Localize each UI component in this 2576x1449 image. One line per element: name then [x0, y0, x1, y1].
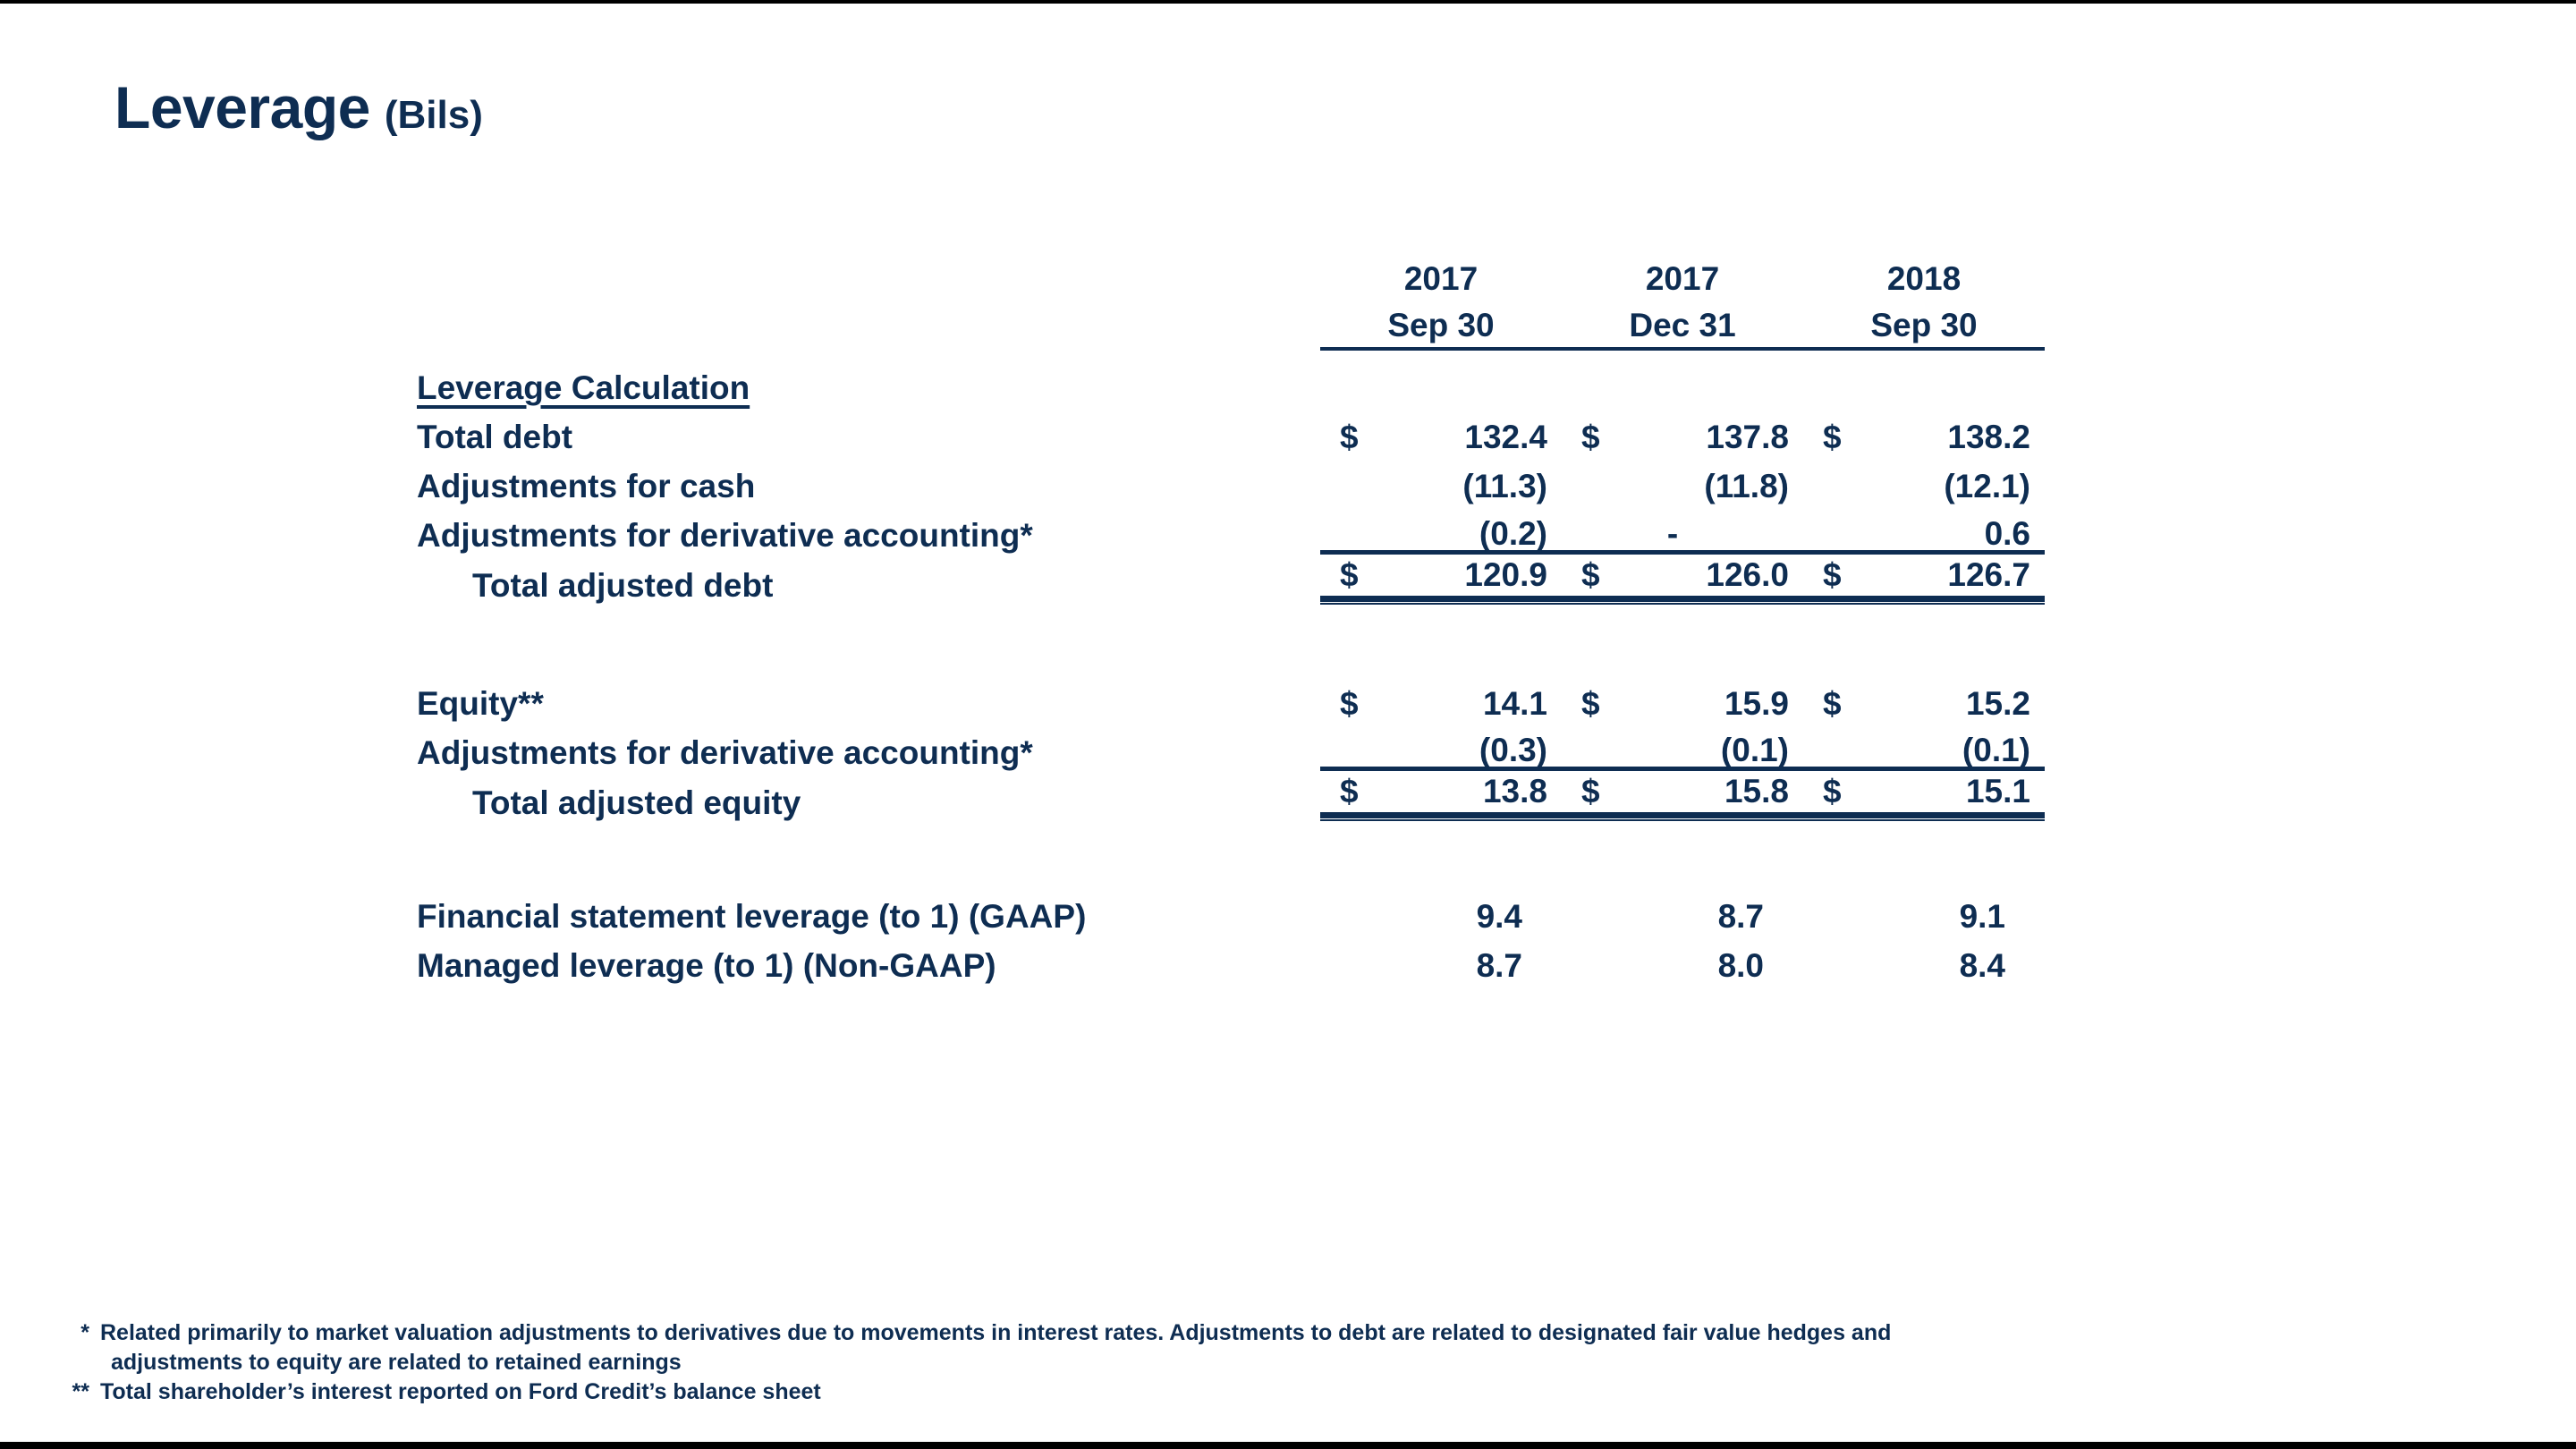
cell-total-debt-c3: $ 138.2: [1803, 404, 2045, 453]
cell-value: 138.2: [1947, 420, 2030, 453]
currency-symbol: $: [1823, 420, 1842, 453]
cell-value: 15.9: [1724, 687, 1789, 720]
cell-managed-leverage-c1: 8.7: [1320, 933, 1562, 982]
spacer-cell: [417, 602, 1320, 671]
row-label-total-adjusted-debt: Total adjusted debt: [417, 552, 1320, 602]
header-row-year: 2017 2017 2018: [417, 254, 2045, 299]
cell-value: 8.7: [1578, 900, 1789, 933]
cell-adj-deriv-debt-c1: (0.2): [1320, 503, 1562, 552]
currency-symbol: $: [1581, 558, 1600, 591]
row-label-adjustments-derivative-debt: Adjustments for derivative accounting*: [417, 503, 1320, 552]
cell-managed-leverage-c3: 8.4: [1803, 933, 2045, 982]
cell-value: 120.9: [1464, 558, 1547, 591]
money-wrap: $ 15.2: [1819, 687, 2030, 720]
cell-value: 15.8: [1724, 775, 1789, 808]
currency-symbol: $: [1823, 687, 1842, 720]
section-heading-label: Leverage Calculation: [417, 349, 1320, 404]
cell-total-adj-debt-c2: $ 126.0: [1562, 552, 1803, 602]
footnote-marker: *: [59, 1318, 100, 1348]
currency-symbol: $: [1340, 558, 1359, 591]
cell-value: 126.7: [1947, 558, 2030, 591]
cell-value: -: [1578, 517, 1789, 550]
table-row-subtotal: Total adjusted equity $ 13.8 $ 15.8: [417, 769, 2045, 819]
header-row-period: Sep 30 Dec 31 Sep 30: [417, 299, 2045, 349]
table-row: Adjustments for derivative accounting* (…: [417, 503, 2045, 552]
money-wrap: $ 15.9: [1578, 687, 1789, 720]
cell-value: (0.3): [1336, 733, 1547, 767]
cell-value: (0.1): [1819, 733, 2030, 767]
leverage-table-container: 2017 2017 2018 Sep 30 Dec 31 Sep 30 Leve…: [0, 254, 2576, 982]
cell-value: 137.8: [1706, 420, 1789, 453]
page-title-units: (Bils): [385, 93, 483, 137]
currency-symbol: $: [1581, 775, 1600, 808]
cell-adj-cash-c2: (11.8): [1562, 453, 1803, 503]
header-spacer-2: [417, 299, 1320, 349]
slide-title: Leverage(Bils): [114, 73, 483, 141]
footnote-marker: **: [59, 1377, 100, 1407]
row-label-financial-statement-leverage: Financial statement leverage (to 1) (GAA…: [417, 884, 1320, 933]
cell-total-adj-equity-c3: $ 15.1: [1803, 769, 2045, 819]
cell-value: 9.4: [1336, 900, 1547, 933]
spacer-cell: [1320, 602, 1562, 671]
table-row: Adjustments for cash (11.3) (11.8) (12.1…: [417, 453, 2045, 503]
header-spacer: [417, 254, 1320, 299]
column-header-year-2: 2017: [1562, 254, 1803, 299]
cell-equity-c2: $ 15.9: [1562, 671, 1803, 720]
currency-symbol: $: [1340, 420, 1359, 453]
cell-adj-deriv-debt-c3: 0.6: [1803, 503, 2045, 552]
spacer-cell: [1803, 602, 2045, 671]
cell-value: (11.8): [1578, 470, 1789, 503]
section-spacer-debt-equity: [417, 602, 2045, 671]
currency-symbol: $: [1823, 558, 1842, 591]
spacer-cell: [1320, 819, 1562, 885]
currency-symbol: $: [1340, 775, 1359, 808]
cell-gaap-leverage-c3: 9.1: [1803, 884, 2045, 933]
cell-adj-cash-c1: (11.3): [1320, 453, 1562, 503]
table-row: Financial statement leverage (to 1) (GAA…: [417, 884, 2045, 933]
money-wrap: $ 13.8: [1336, 775, 1547, 808]
row-label-equity: Equity**: [417, 671, 1320, 720]
money-wrap: $ 138.2: [1819, 420, 2030, 453]
slide-canvas: Leverage(Bils) 2017 2017 2018 Sep 30: [0, 4, 2576, 1442]
cell-total-adj-debt-c3: $ 126.7: [1803, 552, 2045, 602]
cell-value: 0.6: [1819, 517, 2030, 550]
cell-value: 14.1: [1483, 687, 1547, 720]
row-label-adjustments-cash: Adjustments for cash: [417, 453, 1320, 503]
cell-equity-c1: $ 14.1: [1320, 671, 1562, 720]
cell-adj-deriv-debt-c2: -: [1562, 503, 1803, 552]
column-header-period-1: Sep 30: [1320, 299, 1562, 349]
table-row-subtotal: Total adjusted debt $ 120.9 $ 126.0: [417, 552, 2045, 602]
column-header-year-1: 2017: [1320, 254, 1562, 299]
currency-symbol: $: [1340, 687, 1359, 720]
money-wrap: $ 126.0: [1578, 558, 1789, 591]
table-row: Total debt $ 132.4 $ 137.8: [417, 404, 2045, 453]
money-wrap: $ 15.8: [1578, 775, 1789, 808]
column-header-period-2: Dec 31: [1562, 299, 1803, 349]
column-header-year-3: 2018: [1803, 254, 2045, 299]
cell-total-debt-c2: $ 137.8: [1562, 404, 1803, 453]
cell-value: (0.2): [1336, 517, 1547, 550]
cell-adj-deriv-equity-c2: (0.1): [1562, 720, 1803, 769]
spacer-cell: [1562, 602, 1803, 671]
currency-symbol: $: [1581, 420, 1600, 453]
table-row-section-heading: Leverage Calculation: [417, 349, 2045, 404]
letterbox-bottom-band: [0, 1442, 2576, 1449]
cell-gaap-leverage-c2: 8.7: [1562, 884, 1803, 933]
cell-adj-deriv-equity-c1: (0.3): [1320, 720, 1562, 769]
footnote-double-asterisk: ** Total shareholder’s interest reported…: [59, 1377, 2528, 1407]
money-wrap: $ 14.1: [1336, 687, 1547, 720]
page-title: Leverage: [114, 74, 370, 140]
section-heading-cell-3: [1803, 349, 2045, 404]
section-heading-text: Leverage Calculation: [417, 369, 750, 406]
footnote-text-line-2: adjustments to equity are related to ret…: [59, 1348, 2528, 1377]
money-wrap: $ 137.8: [1578, 420, 1789, 453]
column-header-period-3: Sep 30: [1803, 299, 2045, 349]
table-body: Leverage Calculation Total debt $ 132.4: [417, 349, 2045, 982]
cell-value: 13.8: [1483, 775, 1547, 808]
cell-total-adj-equity-c2: $ 15.8: [1562, 769, 1803, 819]
cell-value: (11.3): [1336, 470, 1547, 503]
money-wrap: $ 120.9: [1336, 558, 1547, 591]
cell-value: 132.4: [1464, 420, 1547, 453]
row-label-total-adjusted-equity: Total adjusted equity: [417, 769, 1320, 819]
cell-value: (0.1): [1578, 733, 1789, 767]
cell-value: 126.0: [1706, 558, 1789, 591]
table-header: 2017 2017 2018 Sep 30 Dec 31 Sep 30: [417, 254, 2045, 349]
cell-adj-cash-c3: (12.1): [1803, 453, 2045, 503]
cell-value: 8.0: [1578, 949, 1789, 982]
cell-total-debt-c1: $ 132.4: [1320, 404, 1562, 453]
money-wrap: $ 126.7: [1819, 558, 2030, 591]
footnote-text: Total shareholder’s interest reported on…: [100, 1377, 2528, 1407]
spacer-cell: [417, 819, 1320, 885]
footnote-single-asterisk: * Related primarily to market valuation …: [59, 1318, 2528, 1348]
spacer-cell: [1803, 819, 2045, 885]
section-heading-cell-2: [1562, 349, 1803, 404]
money-wrap: $ 132.4: [1336, 420, 1547, 453]
table-row: Managed leverage (to 1) (Non-GAAP) 8.7 8…: [417, 933, 2045, 982]
table-row: Equity** $ 14.1 $ 15.9: [417, 671, 2045, 720]
cell-value: 15.2: [1966, 687, 2030, 720]
row-label-total-debt: Total debt: [417, 404, 1320, 453]
table-row: Adjustments for derivative accounting* (…: [417, 720, 2045, 769]
section-heading-cell-1: [1320, 349, 1562, 404]
cell-total-adj-equity-c1: $ 13.8: [1320, 769, 1562, 819]
cell-value: 8.7: [1336, 949, 1547, 982]
cell-equity-c3: $ 15.2: [1803, 671, 2045, 720]
currency-symbol: $: [1823, 775, 1842, 808]
footnote-text-line-1: Related primarily to market valuation ad…: [100, 1318, 2528, 1348]
section-spacer-equity-ratios: [417, 819, 2045, 885]
cell-total-adj-debt-c1: $ 120.9: [1320, 552, 1562, 602]
cell-adj-deriv-equity-c3: (0.1): [1803, 720, 2045, 769]
cell-value: 15.1: [1966, 775, 2030, 808]
cell-value: 8.4: [1819, 949, 2030, 982]
footnotes-block: * Related primarily to market valuation …: [59, 1318, 2528, 1407]
currency-symbol: $: [1581, 687, 1600, 720]
row-label-adjustments-derivative-equity: Adjustments for derivative accounting*: [417, 720, 1320, 769]
cell-gaap-leverage-c1: 9.4: [1320, 884, 1562, 933]
spacer-cell: [1562, 819, 1803, 885]
leverage-table: 2017 2017 2018 Sep 30 Dec 31 Sep 30 Leve…: [417, 254, 2045, 982]
cell-managed-leverage-c2: 8.0: [1562, 933, 1803, 982]
money-wrap: $ 15.1: [1819, 775, 2030, 808]
cell-value: 9.1: [1819, 900, 2030, 933]
cell-value: (12.1): [1819, 470, 2030, 503]
row-label-managed-leverage: Managed leverage (to 1) (Non-GAAP): [417, 933, 1320, 982]
